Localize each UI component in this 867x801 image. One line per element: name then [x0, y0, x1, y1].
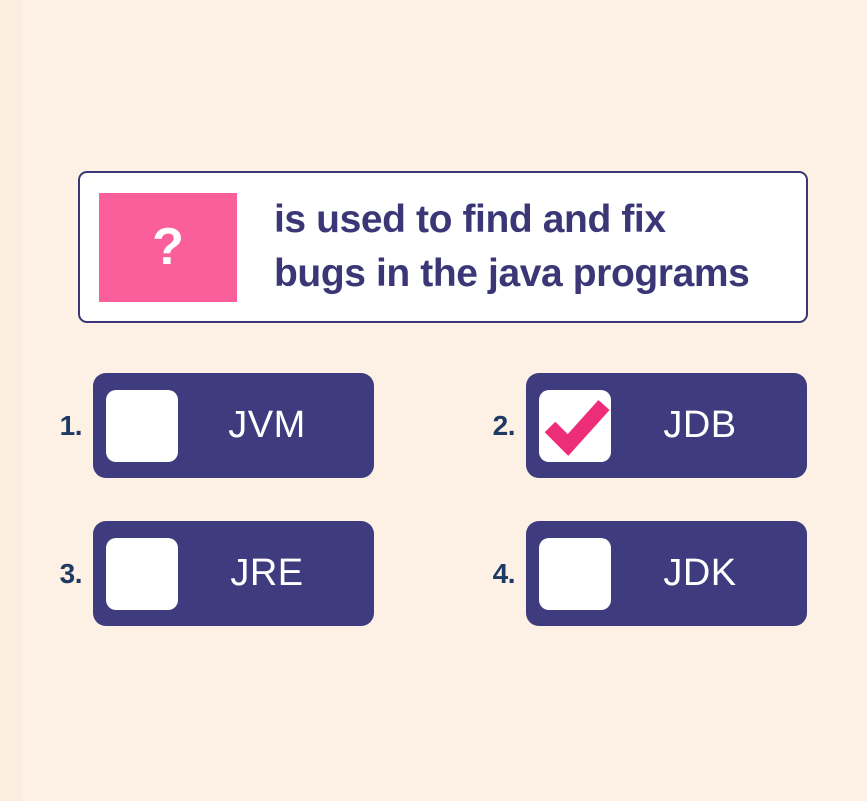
answer-options-grid: 1. JVM 2. JDB: [0, 373, 867, 669]
option-label-4: JDK: [611, 552, 807, 595]
checkbox-4[interactable]: [539, 538, 611, 610]
quiz-question-screen: ? is used to find and fix bugs in the ja…: [0, 0, 867, 801]
option-label-2: JDB: [611, 404, 807, 447]
option-card-1[interactable]: JVM: [93, 373, 374, 478]
checkbox-3[interactable]: [106, 538, 178, 610]
option-number-4: 4.: [477, 558, 515, 590]
question-line-1: is used to find and fix: [274, 193, 749, 247]
answer-option-1[interactable]: 1. JVM: [44, 373, 374, 478]
option-number-2: 2.: [477, 410, 515, 442]
answer-option-2[interactable]: 2. JDB: [477, 373, 807, 478]
question-mark-icon: ?: [99, 193, 237, 302]
answer-option-4[interactable]: 4. JDK: [477, 521, 807, 626]
option-card-4[interactable]: JDK: [526, 521, 807, 626]
answer-option-3[interactable]: 3. JRE: [44, 521, 374, 626]
question-text: is used to find and fix bugs in the java…: [274, 193, 749, 301]
checkmark-icon: [537, 388, 613, 464]
option-number-1: 1.: [44, 410, 82, 442]
question-card: ? is used to find and fix bugs in the ja…: [78, 171, 808, 323]
checkbox-2[interactable]: [539, 390, 611, 462]
question-line-2: bugs in the java programs: [274, 247, 749, 301]
checkbox-1[interactable]: [106, 390, 178, 462]
option-row-top: 1. JVM 2. JDB: [0, 373, 867, 521]
option-label-1: JVM: [178, 404, 374, 447]
option-row-bottom: 3. JRE 4. JDK: [0, 521, 867, 669]
option-number-3: 3.: [44, 558, 82, 590]
option-label-3: JRE: [178, 552, 374, 595]
option-card-3[interactable]: JRE: [93, 521, 374, 626]
option-card-2[interactable]: JDB: [526, 373, 807, 478]
